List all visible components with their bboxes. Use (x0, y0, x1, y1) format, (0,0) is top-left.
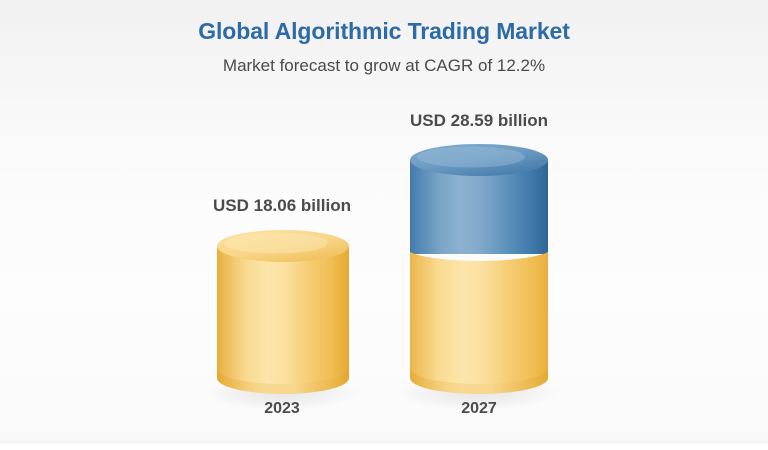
bar-cylinder-2023-graphic (212, 228, 354, 400)
bar-cylinder-2023[interactable] (212, 228, 354, 400)
category-label-2023: 2023 (182, 400, 382, 418)
page-title: Global Algorithmic Trading Market (0, 18, 768, 45)
category-label-2027: 2027 (379, 400, 579, 418)
bar-cylinder-2027-graphic (405, 142, 553, 400)
chart-subtitle: Market forecast to grow at CAGR of 12.2% (0, 56, 768, 76)
chart-canvas: Global Algorithmic Trading Market Market… (0, 0, 768, 450)
bar-value-label-2023: USD 18.06 billion (182, 196, 382, 216)
bar-value-label-2027: USD 28.59 billion (379, 111, 579, 131)
bar-cylinder-2027[interactable] (405, 142, 553, 400)
